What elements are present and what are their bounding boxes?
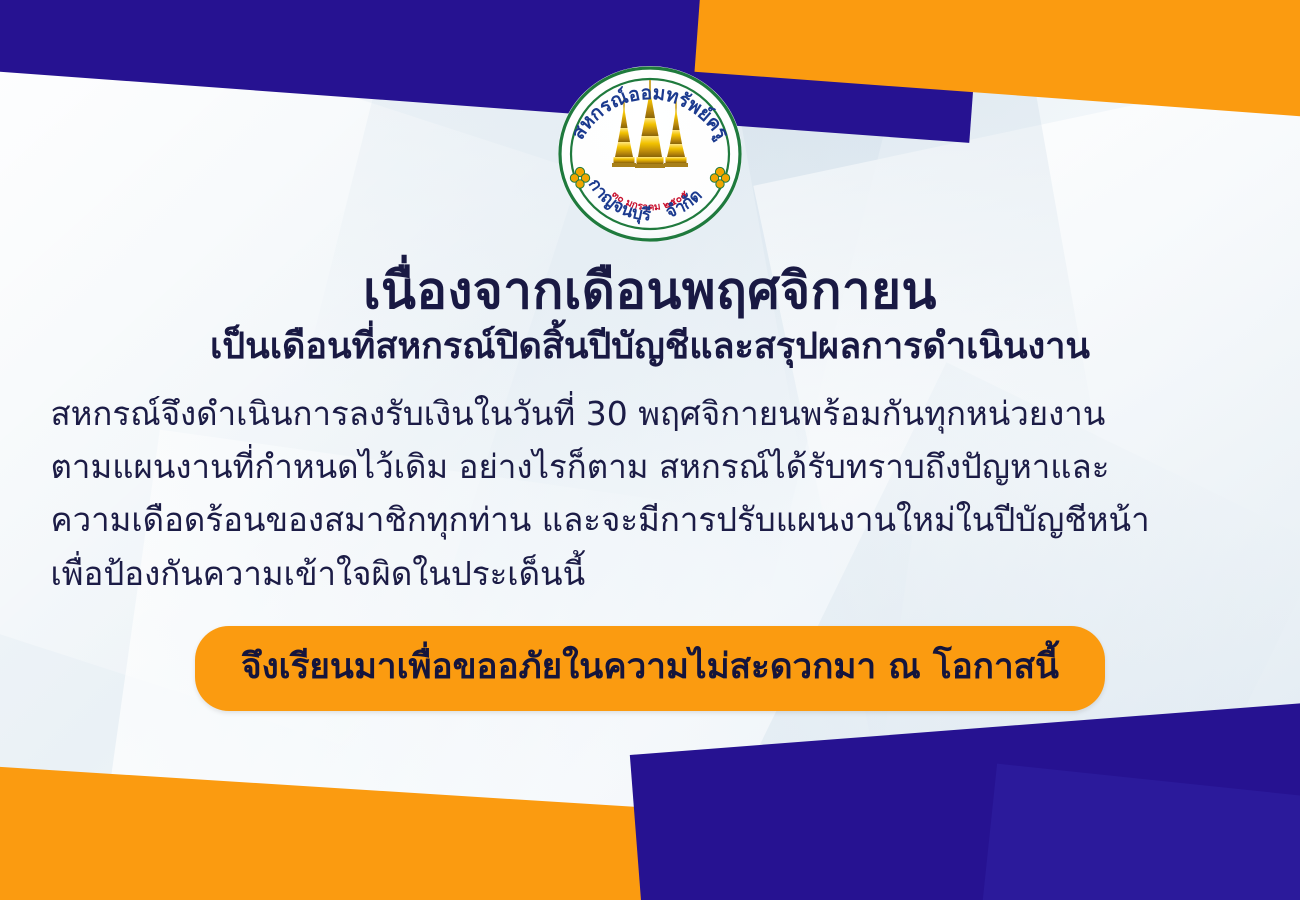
- body-line: ความเดือดร้อนของสมาชิกทุกท่าน และจะมีการ…: [51, 493, 1250, 546]
- page-subtitle: เป็นเดือนที่สหกรณ์ปิดสิ้นปีบัญชีและสรุปผ…: [210, 326, 1090, 368]
- cooperative-emblem: สหกรณ์ออมทรัพย์ครู ๓๐ มกราคม ๒๕๐๕ กาญจนบ…: [550, 62, 750, 247]
- page-title: เนื่องจากเดือนพฤศจิกายน: [363, 263, 937, 320]
- body-line: สหกรณ์จึงดำเนินการลงรับเงินในวันที่ 30 พ…: [51, 387, 1250, 440]
- body-line: ตามแผนงานที่กำหนดไว้เดิม อย่างไรก็ตาม สห…: [51, 440, 1250, 493]
- poster-content: สหกรณ์ออมทรัพย์ครู ๓๐ มกราคม ๒๕๐๕ กาญจนบ…: [0, 0, 1300, 900]
- apology-callout-banner: จึงเรียนมาเพื่อขออภัยในความไม่สะดวกมา ณ …: [195, 626, 1105, 711]
- announcement-poster: สหกรณ์ออมทรัพย์ครู ๓๐ มกราคม ๒๕๐๕ กาญจนบ…: [0, 0, 1300, 900]
- body-line: เพื่อป้องกันความเข้าใจผิดในประเด็นนี้: [51, 547, 1250, 600]
- announcement-body: สหกรณ์จึงดำเนินการลงรับเงินในวันที่ 30 พ…: [23, 387, 1278, 601]
